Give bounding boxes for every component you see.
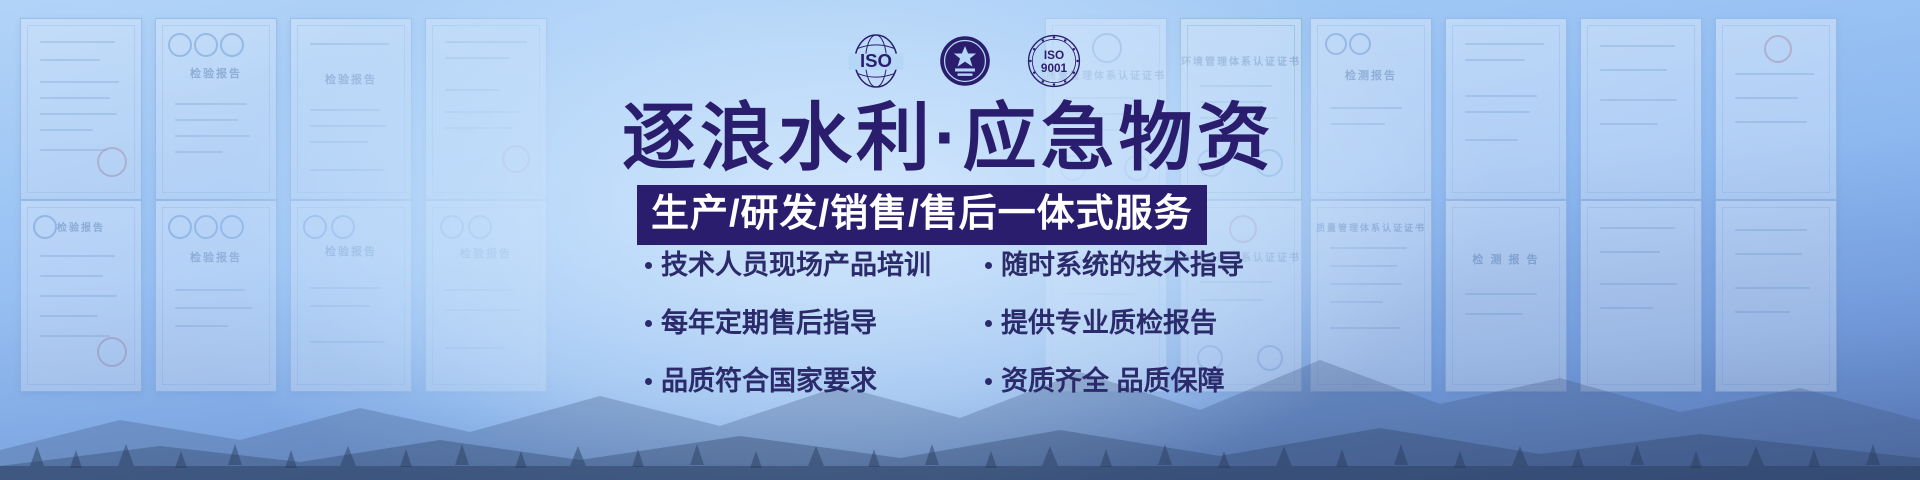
iso9001-badge: ISO 9001 (1023, 30, 1085, 92)
iso-badge: ISO (845, 30, 907, 92)
bullet-dot-icon (985, 320, 992, 327)
feature-list: 技术人员现场产品培训 随时系统的技术指导 每年定期售后指导 提供专业质检报告 品… (645, 248, 1305, 398)
list-item-label: 提供专业质检报告 (1001, 306, 1217, 340)
bullet-dot-icon (645, 378, 652, 385)
list-item-label: 品质符合国家要求 (661, 364, 877, 398)
banner-content: ISO ISO (0, 0, 1920, 480)
list-item: 资质齐全 品质保障 (985, 364, 1305, 398)
list-item-label: 每年定期售后指导 (661, 306, 877, 340)
bullet-dot-icon (645, 320, 652, 327)
svg-text:ISO: ISO (860, 50, 892, 71)
bullet-dot-icon (645, 262, 652, 269)
bullet-dot-icon (985, 378, 992, 385)
list-item: 随时系统的技术指导 (985, 248, 1305, 282)
list-item-label: 技术人员现场产品培训 (661, 248, 931, 282)
list-item: 品质符合国家要求 (645, 364, 985, 398)
page-title: 逐浪水利·应急物资 (622, 98, 1322, 178)
list-item: 技术人员现场产品培训 (645, 248, 985, 282)
list-item: 每年定期售后指导 (645, 306, 985, 340)
promo-banner: 检验报告 检验报告 质量管理体系认证证书 (0, 0, 1920, 480)
certification-badges: ISO ISO (845, 30, 1085, 92)
svg-text:9001: 9001 (1041, 62, 1068, 75)
cqc-certification-badge (934, 30, 996, 92)
list-item-label: 资质齐全 品质保障 (1001, 364, 1225, 398)
bullet-dot-icon (985, 262, 992, 269)
list-item: 提供专业质检报告 (985, 306, 1305, 340)
subtitle-band: 生产/研发/销售/售后一体式服务 (637, 185, 1207, 245)
svg-text:ISO: ISO (1044, 49, 1064, 62)
list-item-label: 随时系统的技术指导 (1001, 248, 1244, 282)
